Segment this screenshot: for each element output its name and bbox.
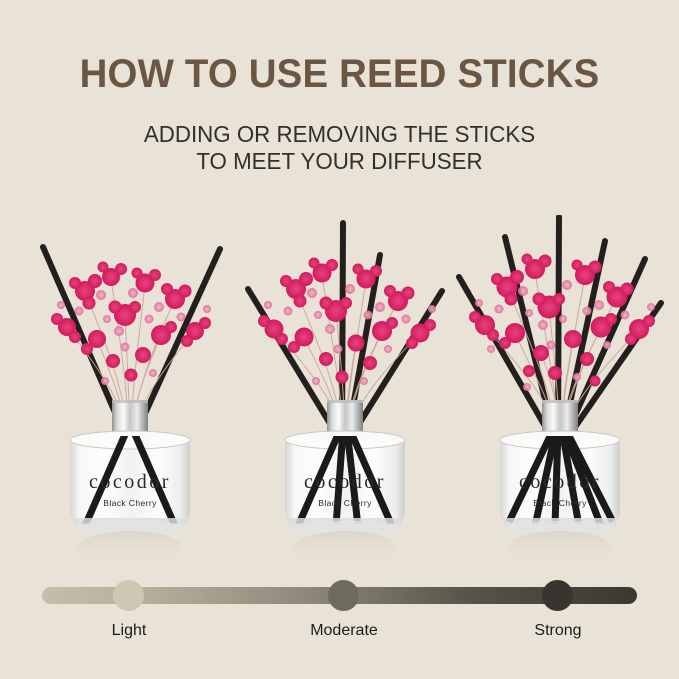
subtitle-line-2: TO MEET YOUR DIFFUSER xyxy=(10,148,669,175)
brand-text-moderate: cocodor xyxy=(304,471,386,493)
slider-label-strong: Strong xyxy=(534,622,581,640)
subtitle-line-1: ADDING OR REMOVING THE STICKS xyxy=(10,121,669,148)
page-subtitle: ADDING OR REMOVING THE STICKS TO MEET YO… xyxy=(10,121,669,175)
slider-label-light: Light xyxy=(112,622,147,640)
slider-label-moderate: Moderate xyxy=(310,622,378,640)
diffuser-strong: cocodor Black Cherry xyxy=(445,215,675,575)
dried-flowers xyxy=(469,254,655,392)
slider-knob-strong[interactable] xyxy=(542,580,573,611)
scent-text-strong: Black Cherry xyxy=(533,498,587,508)
scent-text-moderate: Black Cherry xyxy=(318,498,372,508)
page-title: HOW TO USE REED STICKS xyxy=(14,52,666,97)
infographic-canvas: HOW TO USE REED STICKS ADDING OR REMOVIN… xyxy=(0,0,679,679)
dried-flowers xyxy=(258,258,436,386)
brand-text-strong: cocodor xyxy=(519,471,601,493)
slider-label-row: Light Moderate Strong xyxy=(0,622,679,646)
bottle-strong: cocodor Black Cherry xyxy=(445,400,675,575)
bottle-moderate: cocodor Black Cherry xyxy=(230,400,460,575)
bottle-light: cocodor Black Cherry xyxy=(15,400,245,575)
diffuser-light: cocodor Black Cherry xyxy=(15,215,245,575)
diffuser-moderate: cocodor Black Cherry xyxy=(230,215,460,575)
slider-knob-moderate[interactable] xyxy=(328,580,359,611)
brand-text-light: cocodor xyxy=(89,471,171,493)
scent-text-light: Black Cherry xyxy=(103,498,157,508)
intensity-slider[interactable]: Light Moderate Strong xyxy=(0,578,679,648)
slider-knob-light[interactable] xyxy=(113,580,144,611)
